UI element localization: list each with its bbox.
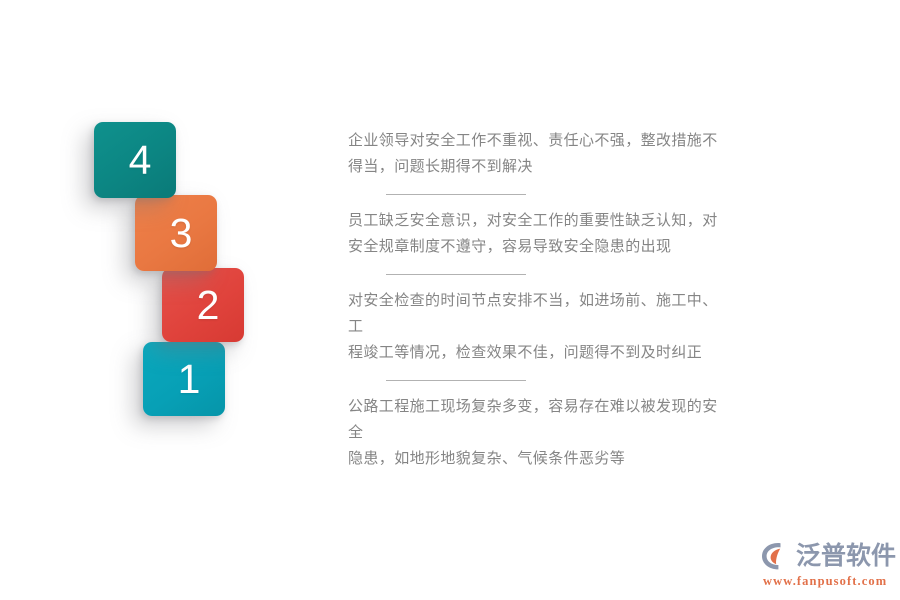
brand-name: 泛普软件 xyxy=(796,541,896,571)
brand-url: www.fanpusoft.com xyxy=(763,573,887,589)
number-block-4-label: 4 xyxy=(129,140,152,181)
reason-text: 企业领导对安全工作不重视、责任心不强，整改措施不 得当，问题长期得不到解决 xyxy=(348,128,728,180)
reason-text: 对安全检查的时间节点安排不当，如进场前、施工中、工 程竣工等情况，检查效果不佳，… xyxy=(348,288,728,366)
reason-item: 企业领导对安全工作不重视、责任心不强，整改措施不 得当，问题长期得不到解决 xyxy=(348,128,728,195)
reason-divider xyxy=(386,274,526,275)
number-block-1-label: 1 xyxy=(178,359,201,400)
brand-logo: 泛普软件 www.fanpusoft.com xyxy=(760,540,892,592)
number-block-2-label: 2 xyxy=(197,285,220,326)
reason-divider xyxy=(386,194,526,195)
reason-text: 公路工程施工现场复杂多变，容易存在难以被发现的安全 隐患，如地形地貌复杂、气候条… xyxy=(348,394,728,472)
numbered-blocks-group: 4 3 2 1 xyxy=(0,0,320,600)
brand-logo-top: 泛普软件 xyxy=(760,540,896,572)
number-block-3-label: 3 xyxy=(170,213,193,254)
page-root: 4 3 2 1 企业领导对安全工作不重视、责任心不强，整改措施不 得当，问题长期… xyxy=(0,0,900,600)
number-block-3: 3 xyxy=(135,195,217,271)
reason-text: 员工缺乏安全意识，对安全工作的重要性缺乏认知，对 安全规章制度不遵守，容易导致安… xyxy=(348,208,728,260)
fanpu-swoosh-icon xyxy=(760,541,794,571)
reason-item: 对安全检查的时间节点安排不当，如进场前、施工中、工 程竣工等情况，检查效果不佳，… xyxy=(348,288,728,381)
number-block-4: 4 xyxy=(94,122,176,198)
reason-list: 企业领导对安全工作不重视、责任心不强，整改措施不 得当，问题长期得不到解决 员工… xyxy=(348,128,728,472)
reason-divider xyxy=(386,380,526,381)
reason-item: 公路工程施工现场复杂多变，容易存在难以被发现的安全 隐患，如地形地貌复杂、气候条… xyxy=(348,394,728,472)
reason-item: 员工缺乏安全意识，对安全工作的重要性缺乏认知，对 安全规章制度不遵守，容易导致安… xyxy=(348,208,728,275)
number-block-2: 2 xyxy=(162,268,244,342)
number-block-1: 1 xyxy=(143,342,225,416)
